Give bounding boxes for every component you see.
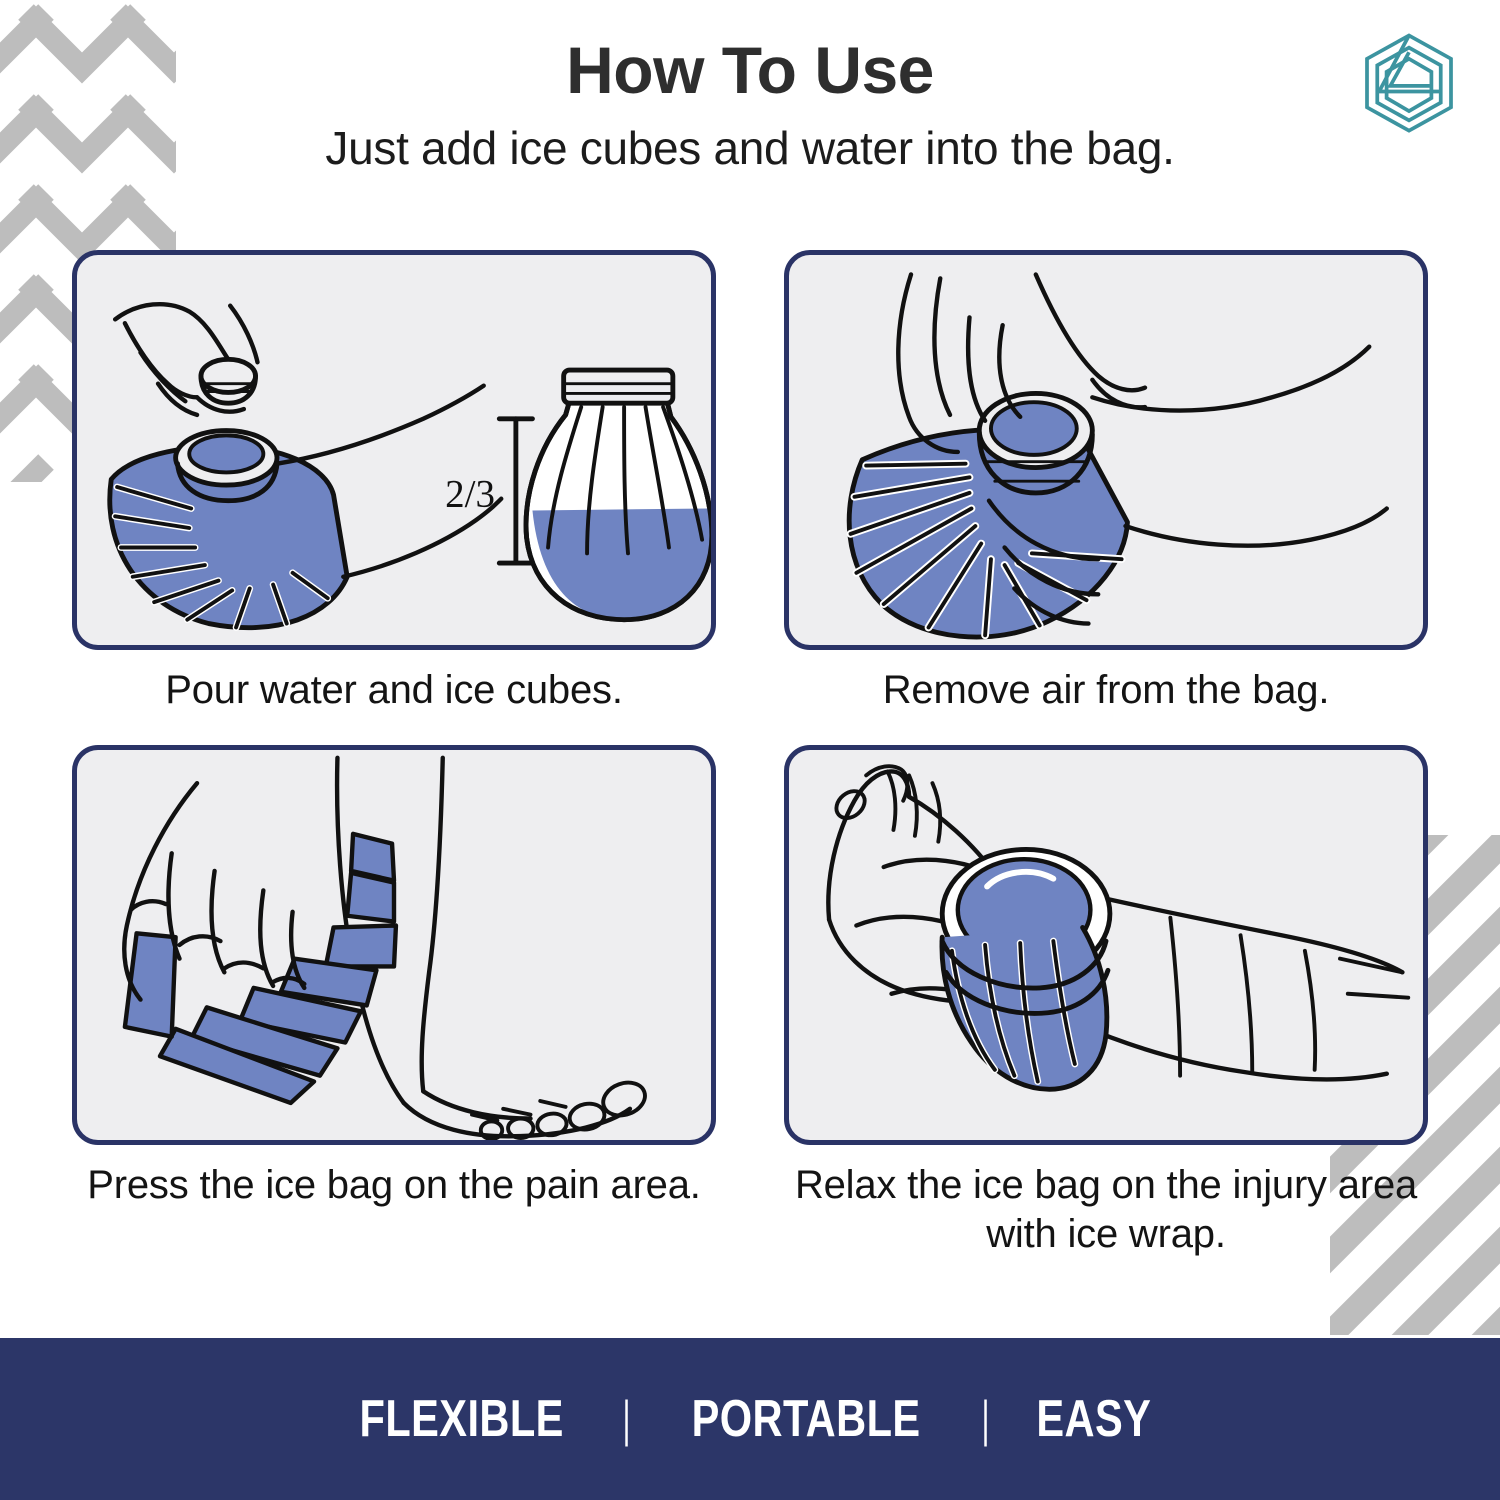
step-4-caption: Relax the ice bag on the injury area wit… [784,1161,1428,1259]
step-1: 2/3 Pour water and ice cubes. [72,250,716,715]
hexagon-spiral-logo-icon [1353,28,1465,140]
hand-squeezing-air-from-bag-illustration [789,255,1423,645]
features-banner: FLEXIBLE | PORTABLE | EASY [0,1338,1500,1500]
page-title: How To Use [0,36,1500,105]
feature-portable: PORTABLE [691,1389,920,1449]
fill-level-annotation: 2/3 [445,473,495,516]
header: How To Use Just add ice cubes and water … [0,0,1500,176]
step-3-caption: Press the ice bag on the pain area. [87,1161,700,1210]
feature-easy: EASY [1036,1389,1151,1449]
feature-flexible: FLEXIBLE [360,1389,564,1449]
step-3-illustration-panel [72,745,716,1145]
infographic-page: How To Use Just add ice cubes and water … [0,0,1500,1500]
step-2: Remove air from the bag. [784,250,1428,715]
step-3: Press the ice bag on the pain area. [72,745,716,1259]
step-4: Relax the ice bag on the injury area wit… [784,745,1428,1259]
step-1-illustration-panel: 2/3 [72,250,716,650]
step-1-caption: Pour water and ice cubes. [165,666,622,715]
page-subtitle: Just add ice cubes and water into the ba… [0,121,1500,176]
hand-pressing-bag-on-ankle-illustration [77,750,711,1140]
step-4-illustration-panel [784,745,1428,1145]
step-2-caption: Remove air from the bag. [883,666,1330,715]
banner-separator-1: | [622,1390,630,1448]
banner-separator-2: | [982,1390,990,1448]
steps-grid: 2/3 Pour water and ice cubes. [0,250,1500,1258]
ice-bag-secured-with-wrap-illustration [789,750,1423,1140]
step-2-illustration-panel [784,250,1428,650]
hand-opening-ice-bag-cap-illustration: 2/3 [77,255,711,645]
features-banner-items: FLEXIBLE | PORTABLE | EASY [334,1389,1165,1449]
